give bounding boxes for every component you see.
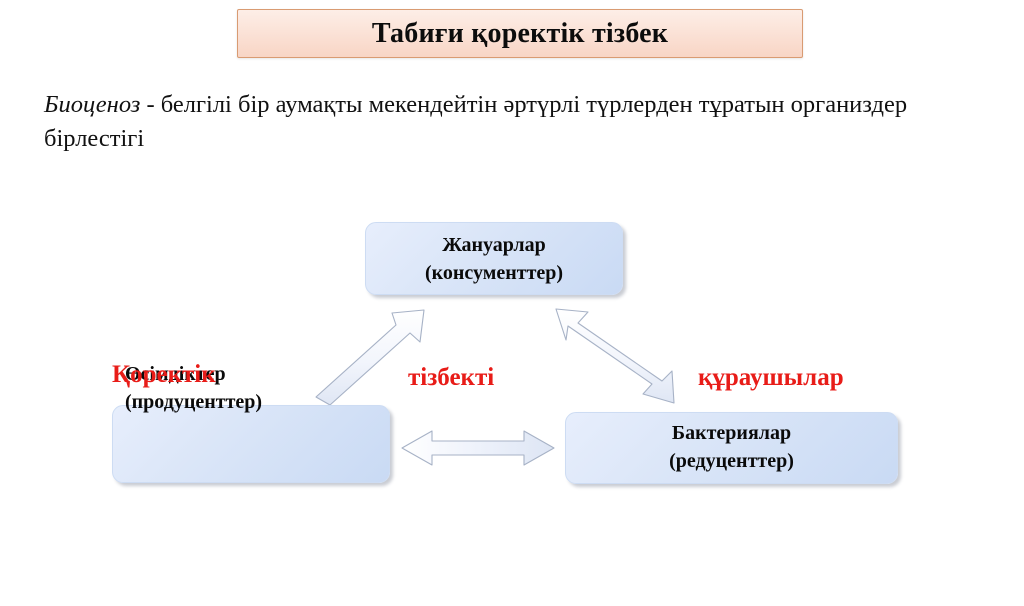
diagram-node-producers[interactable]: Өсімдіктер (продуценттер) [112, 405, 390, 483]
caption-koryektik: Қоректік [112, 362, 216, 387]
definition-body: - белгілі бір аумақты мекендейтін әртүрл… [44, 91, 907, 152]
node-reducers-line1: Бактериялар [566, 419, 897, 447]
node-consumers-line2: (консументтер) [366, 259, 622, 287]
caption-qurauship: құраушылар [698, 365, 844, 390]
node-reducers-label: Бактериялар (редуценттер) [566, 419, 897, 476]
definition-paragraph: Биоценоз - белгілі бір аумақты мекендейт… [44, 88, 944, 156]
node-reducers-line2: (редуценттер) [566, 447, 897, 475]
node-producers-line2: (продуценттер) [125, 388, 262, 416]
definition-term: Биоценоз [44, 91, 140, 118]
arrow-producers-reducers [402, 431, 554, 465]
page-title: Табиғи қоректік тізбек [372, 20, 668, 48]
diagram-node-consumers[interactable]: Жануарлар (консументтер) [365, 222, 623, 295]
node-consumers-line1: Жануарлар [366, 231, 622, 259]
slide-canvas: Табиғи қоректік тізбек Биоценоз - белгіл… [0, 0, 1024, 606]
caption-tizbekti: тізбекті [408, 365, 494, 390]
slide-title-banner: Табиғи қоректік тізбек [237, 9, 803, 58]
diagram-node-reducers[interactable]: Бактериялар (редуценттер) [565, 412, 898, 484]
arrow-consumers-to-reducers [556, 309, 674, 403]
node-consumers-label: Жануарлар (консументтер) [366, 231, 622, 288]
